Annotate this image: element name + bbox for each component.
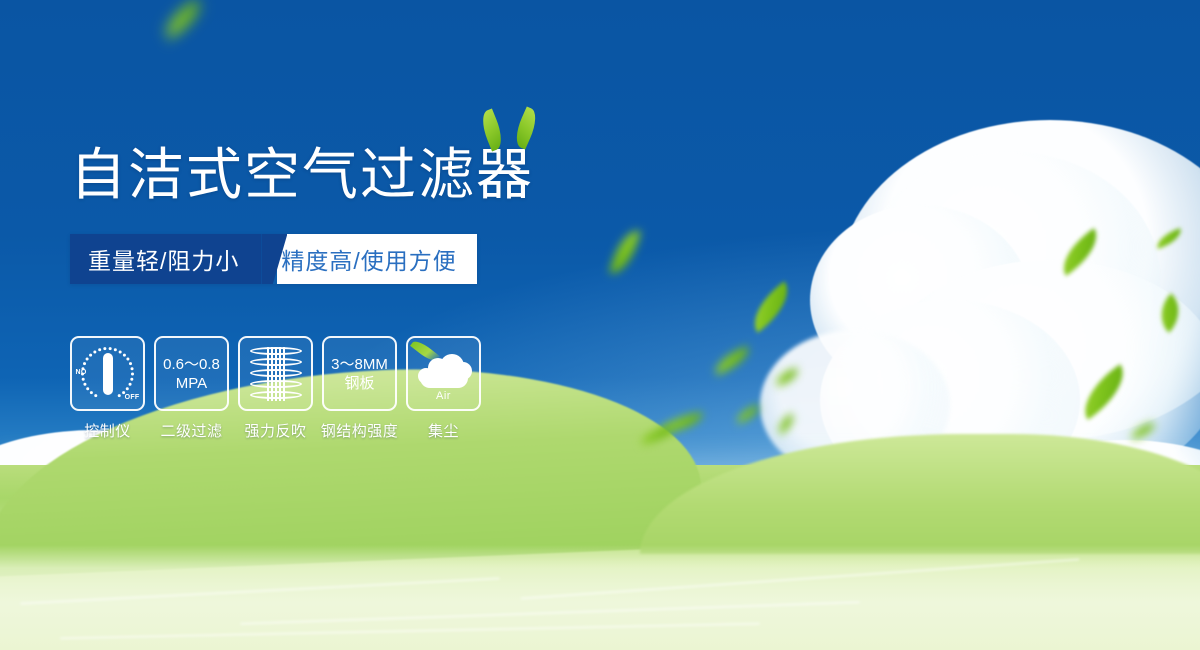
grass-field: [0, 465, 1200, 650]
dial-tick: [129, 362, 133, 366]
feature-icon-box: [238, 336, 313, 411]
feature-icon-box: Air: [406, 336, 481, 411]
feature-label: 集尘: [428, 420, 459, 441]
dial-tick: [118, 350, 122, 354]
dial-label-off: OFF: [125, 394, 140, 401]
feature-icon-box: 3～8MM 钢板: [322, 336, 397, 411]
dial-tick: [108, 347, 112, 351]
dial-tick: [130, 367, 134, 371]
coil-ring: [250, 347, 302, 355]
dial-tick: [83, 382, 87, 386]
feature-item-dust[interactable]: Air 集尘: [406, 336, 481, 441]
dial-tick: [94, 394, 98, 398]
dial-tick: [125, 387, 129, 391]
dial-tick: [117, 394, 121, 398]
dial-tick: [130, 377, 134, 381]
dial-tick: [93, 350, 97, 354]
coil-ring: [250, 358, 302, 366]
feature-item-steel[interactable]: 3～8MM 钢板 钢结构强度: [322, 336, 397, 441]
dial-tick: [81, 372, 85, 376]
cloud-base: [420, 371, 468, 388]
dial-tick: [128, 382, 132, 386]
air-label: Air: [414, 390, 474, 402]
dial-tick: [122, 391, 126, 395]
dial-tick: [86, 387, 90, 391]
headline-block: 自洁式空气过滤器: [70, 142, 534, 208]
dial-tick: [89, 353, 93, 357]
dial-tick: [123, 353, 127, 357]
coil-ring: [250, 380, 302, 388]
feature-icon-box: 0.6～0.8 MPA: [154, 336, 229, 411]
dial-tick: [98, 348, 102, 352]
subtitle-left: 重量轻/阻力小: [70, 234, 261, 284]
page-title: 自洁式空气过滤器: [70, 142, 534, 208]
dial-tick: [85, 357, 89, 361]
feature-label: 强力反吹: [244, 420, 306, 441]
subtitle-right: 精度高/使用方便: [277, 234, 476, 284]
coil-ring: [250, 391, 302, 399]
coil-ring: [250, 369, 302, 377]
dial-tick: [90, 391, 94, 395]
pressure-value-line2: MPA: [176, 374, 207, 393]
sprout-leaf-left: [477, 108, 507, 151]
feature-icon-box: NO OFF: [70, 336, 145, 411]
dial-gauge-icon: NO OFF: [77, 343, 139, 405]
pressure-value-line1: 0.6～0.8: [163, 355, 220, 374]
dial-needle: [103, 353, 113, 395]
feature-list: NO OFF 控制仪 0.6～0.8 MPA 二级过滤: [70, 336, 481, 441]
filter-coil-icon: [248, 345, 304, 403]
dial-tick: [131, 372, 135, 376]
feature-item-control[interactable]: NO OFF 控制仪: [70, 336, 145, 441]
subtitle-banner: 重量轻/阻力小 精度高/使用方便: [70, 234, 477, 284]
air-cloud-icon: Air: [414, 350, 474, 398]
dial-tick: [103, 347, 107, 351]
steel-value-line1: 3～8MM: [331, 355, 388, 374]
dial-tick: [114, 348, 118, 352]
sprout-leaves-icon: [470, 108, 558, 152]
dial-tick: [126, 357, 130, 361]
dial-tick: [81, 377, 85, 381]
sprout-leaf-right: [511, 106, 542, 149]
steel-value-line2: 钢板: [344, 374, 374, 393]
feature-label: 控制仪: [84, 420, 131, 441]
dial-tick: [83, 362, 87, 366]
feature-label: 二级过滤: [160, 420, 222, 441]
feature-item-filtration[interactable]: 0.6～0.8 MPA 二级过滤: [154, 336, 229, 441]
product-hero-banner: 自洁式空气过滤器 重量轻/阻力小 精度高/使用方便 NO OFF 控制仪 0.6…: [0, 0, 1200, 650]
dial-tick: [81, 367, 85, 371]
feature-label: 钢结构强度: [321, 420, 399, 441]
feature-item-backblow[interactable]: 强力反吹: [238, 336, 313, 441]
